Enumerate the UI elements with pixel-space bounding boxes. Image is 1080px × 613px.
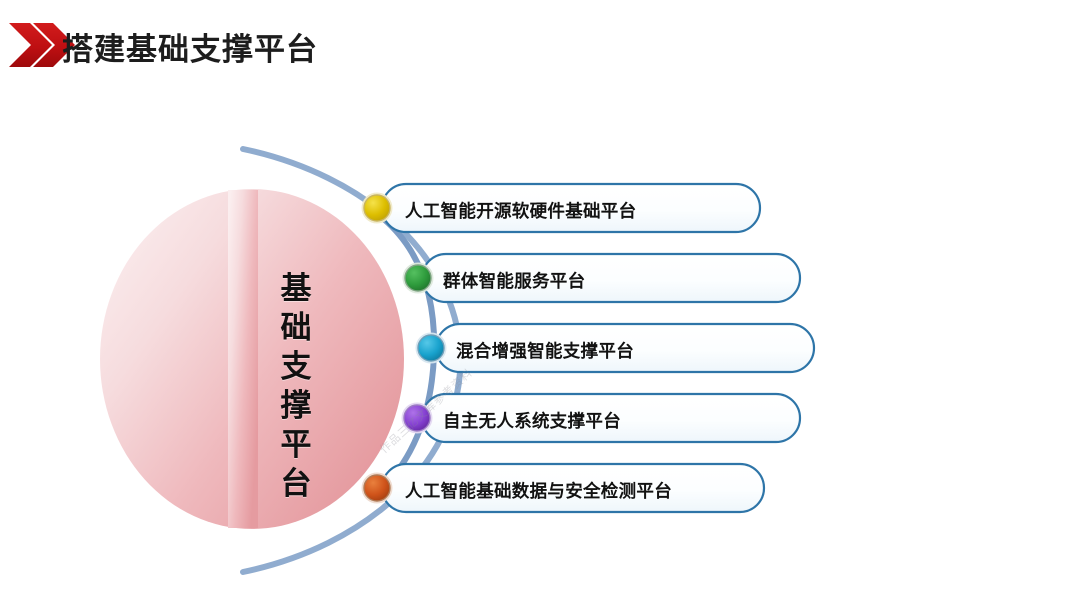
dot-node-5[interactable] — [362, 473, 393, 504]
hub-char-6: 台 — [272, 465, 320, 504]
platform-label-3: 混合增强智能支撑平台 — [456, 338, 634, 363]
platform-diagram: 基 础 支 撑 平 台 人工智能开源软硬件基础平台 群体智能服务平台 混合增强智… — [0, 92, 1080, 613]
hub-char-5: 平 — [272, 426, 320, 465]
platform-label-5: 人工智能基础数据与安全检测平台 — [405, 478, 672, 503]
platform-label-4: 自主无人系统支撑平台 — [443, 408, 621, 433]
hub-char-2: 础 — [272, 309, 320, 348]
hub-char-4: 撑 — [272, 387, 320, 426]
dot-node-1[interactable] — [362, 193, 393, 224]
hub-label: 基 础 支 撑 平 台 — [272, 270, 320, 504]
dot-node-3[interactable] — [416, 333, 447, 364]
hub-shape — [100, 189, 404, 529]
dot-node-2[interactable] — [403, 263, 434, 294]
platform-label-1: 人工智能开源软硬件基础平台 — [405, 198, 636, 223]
hub-char-3: 支 — [272, 348, 320, 387]
page-header: 搭建基础支撑平台 — [0, 0, 1080, 92]
dot-node-4[interactable] — [402, 403, 433, 434]
page-title: 搭建基础支撑平台 — [62, 24, 318, 69]
platform-label-2: 群体智能服务平台 — [443, 268, 585, 293]
hub-char-1: 基 — [272, 270, 320, 309]
